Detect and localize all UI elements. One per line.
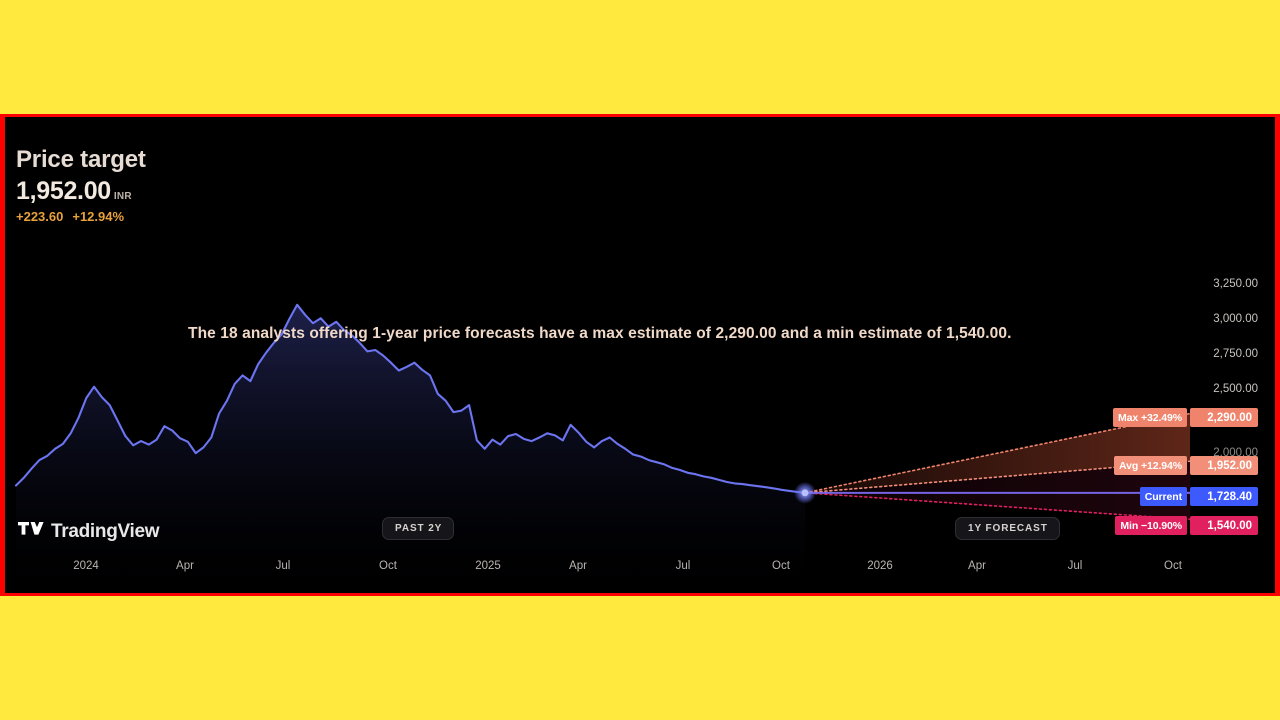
price-target-value-row: 1,952.00 INR [16, 177, 146, 206]
x-axis-tick: Jul [276, 560, 291, 572]
tradingview-wordmark: TradingView [51, 521, 159, 543]
x-axis-tick: Apr [569, 560, 587, 572]
avg-price-label[interactable]: Avg +12.94% 1,952.00 [1114, 456, 1258, 475]
y-axis-tick: 2,500.00 [1213, 383, 1258, 395]
currency-label: INR [114, 191, 132, 202]
x-axis-tick: 2024 [73, 560, 99, 572]
y-axis-tick: 2,750.00 [1213, 348, 1258, 360]
panel-border-left [0, 114, 5, 596]
x-axis-tick: Jul [1068, 560, 1083, 572]
tradingview-branding: TradingView [18, 521, 159, 543]
price-target-chart-panel: Price target 1,952.00 INR +223.60 +12.94… [0, 114, 1280, 596]
min-price-tag: Min −10.90% [1115, 516, 1187, 535]
x-axis-tick: Oct [379, 560, 397, 572]
1y-forecast-pill[interactable]: 1Y FORECAST [955, 517, 1060, 540]
y-axis-tick: 3,250.00 [1213, 278, 1258, 290]
current-price-value: 1,728.40 [1190, 487, 1258, 506]
price-target-header: Price target 1,952.00 INR +223.60 +12.94… [16, 147, 146, 224]
tradingview-logo-icon [18, 522, 44, 543]
min-price-value: 1,540.00 [1190, 516, 1258, 535]
x-axis-tick: Apr [968, 560, 986, 572]
current-price-dot [802, 489, 809, 496]
max-price-label[interactable]: Max +32.49% 2,290.00 [1113, 408, 1258, 427]
avg-price-value: 1,952.00 [1190, 456, 1258, 475]
x-axis-tick: 2026 [867, 560, 893, 572]
min-price-label[interactable]: Min −10.90% 1,540.00 [1115, 516, 1258, 535]
price-change-row: +223.60 +12.94% [16, 209, 146, 224]
x-axis-tick: Jul [676, 560, 691, 572]
max-price-tag: Max +32.49% [1113, 408, 1187, 427]
x-axis-tick: Oct [1164, 560, 1182, 572]
avg-price-tag: Avg +12.94% [1114, 456, 1187, 475]
y-axis-tick: 3,000.00 [1213, 313, 1258, 325]
change-absolute: +223.60 [16, 209, 63, 224]
x-axis-tick: 2025 [475, 560, 501, 572]
price-chart-plot [0, 117, 1280, 596]
current-price-label[interactable]: Current 1,728.40 [1140, 487, 1258, 506]
max-price-value: 2,290.00 [1190, 408, 1258, 427]
past-2y-pill[interactable]: PAST 2Y [382, 517, 454, 540]
x-axis-tick: Apr [176, 560, 194, 572]
price-target-value: 1,952.00 [16, 177, 111, 206]
change-percent: +12.94% [72, 209, 124, 224]
x-axis-tick: Oct [772, 560, 790, 572]
current-price-tag: Current [1140, 487, 1187, 506]
page-title: Price target [16, 147, 146, 173]
analyst-forecast-headline: The 18 analysts offering 1-year price fo… [188, 325, 1012, 343]
screenshot-stage: Price target 1,952.00 INR +223.60 +12.94… [0, 0, 1280, 720]
panel-border-right [1275, 114, 1280, 596]
